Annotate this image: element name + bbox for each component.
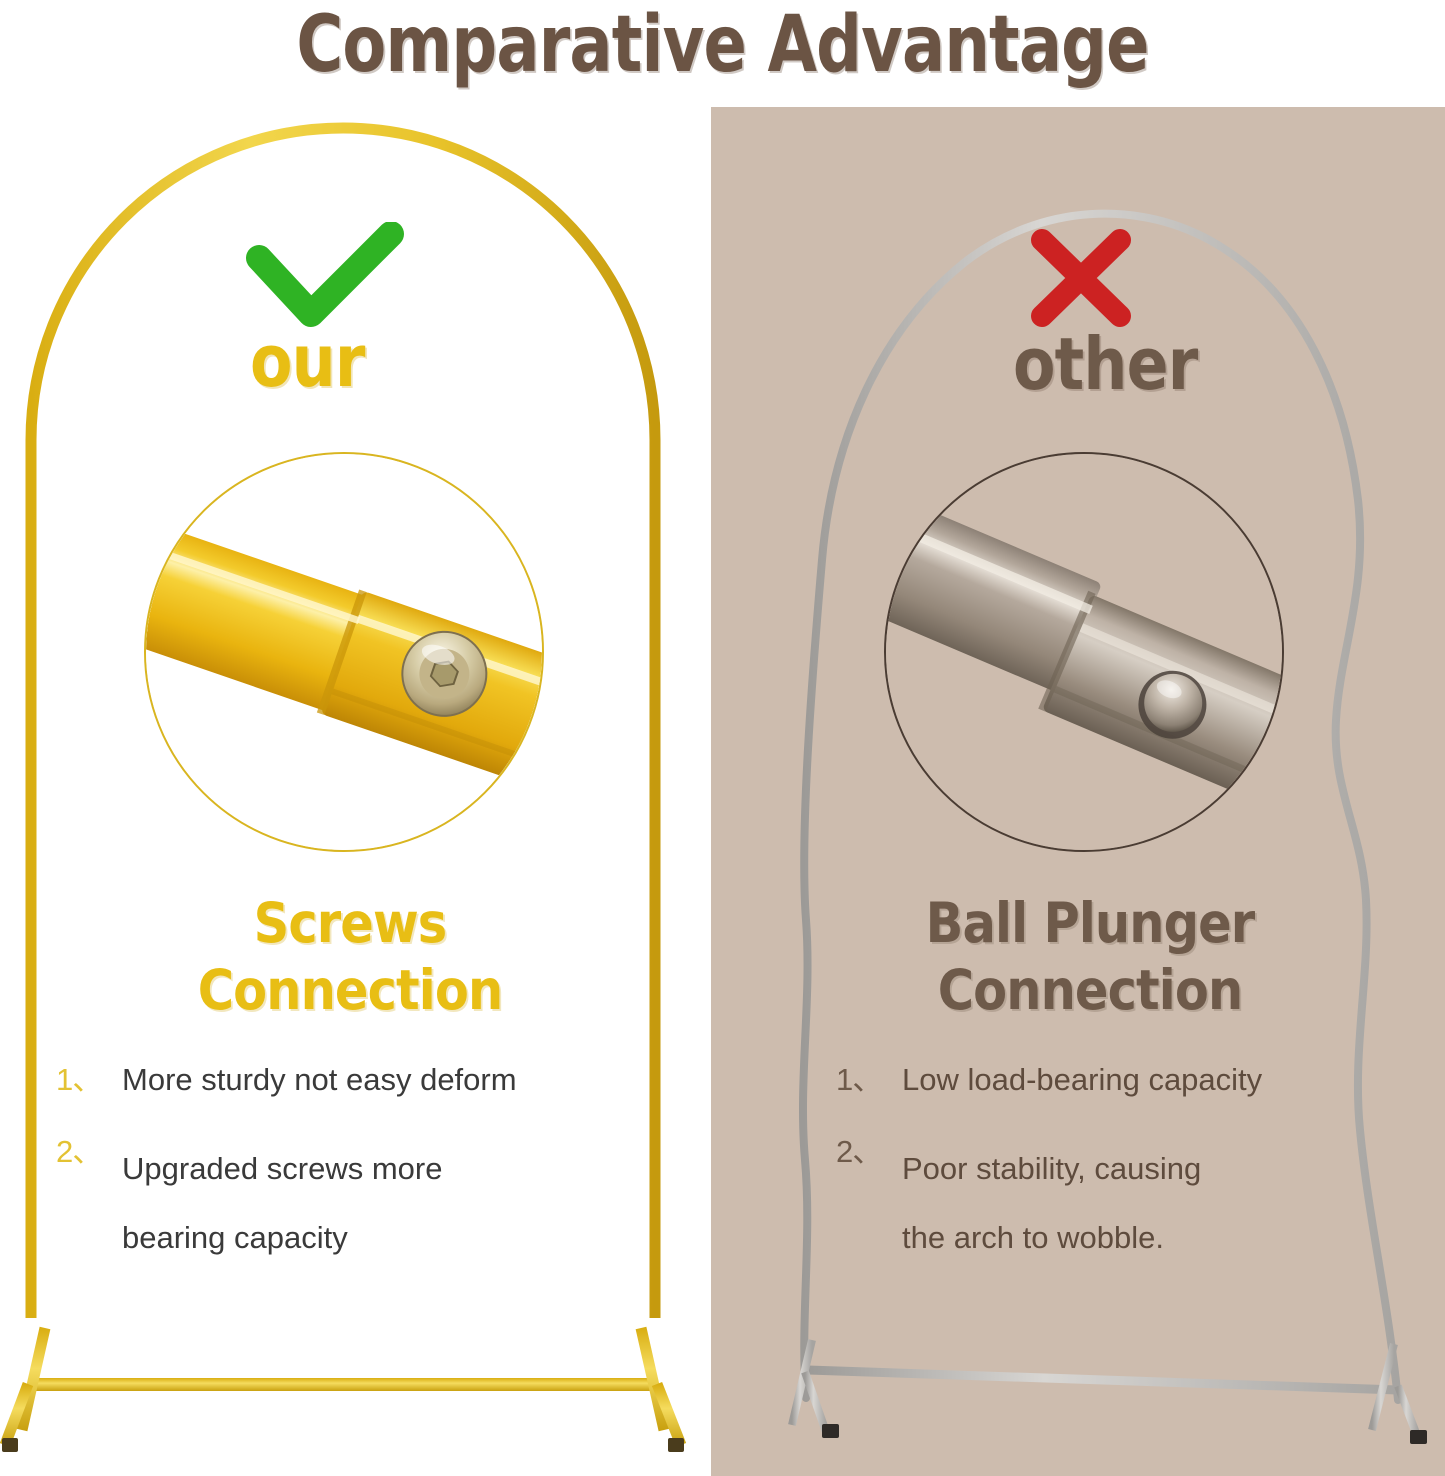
left-heading-line2: Connection	[89, 957, 611, 1024]
page-title: Comparative Advantage	[130, 2, 1315, 88]
check-mark-icon	[245, 222, 405, 332]
left-bullet-list: 1、 More sturdy not easy deform 2、 Upgrad…	[56, 1062, 676, 1308]
right-heading: Ball Plunger Connection	[829, 890, 1351, 1024]
left-heading-line1: Screws	[89, 890, 611, 957]
list-item: 2、 Upgraded screws more bearing capacity	[56, 1134, 676, 1272]
list-item-text: More sturdy not easy deform	[122, 1062, 676, 1098]
list-item-number: 1、	[56, 1062, 122, 1098]
ball-plunger-connection-photo	[884, 452, 1284, 852]
left-heading: Screws Connection	[89, 890, 611, 1024]
list-item-number: 1、	[836, 1062, 902, 1098]
list-item-text: Poor stability, causing the arch to wobb…	[902, 1134, 1436, 1272]
right-heading-line1: Ball Plunger	[829, 890, 1351, 957]
list-item-number: 2、	[56, 1134, 122, 1170]
list-item-text: Upgraded screws more bearing capacity	[122, 1134, 676, 1272]
list-item-text: Low load-bearing capacity	[902, 1062, 1436, 1098]
list-item-number: 2、	[836, 1134, 902, 1170]
list-item: 1、 Low load-bearing capacity	[836, 1062, 1436, 1098]
list-item: 2、 Poor stability, causing the arch to w…	[836, 1134, 1436, 1272]
screws-connection-photo	[144, 452, 544, 852]
our-label: our	[250, 322, 365, 400]
right-heading-line2: Connection	[829, 957, 1351, 1024]
list-item: 1、 More sturdy not easy deform	[56, 1062, 676, 1098]
cross-mark-icon	[1026, 228, 1136, 328]
other-label: other	[1013, 325, 1197, 403]
comparison-infographic: Comparative Advantage	[0, 0, 1445, 1476]
right-bullet-list: 1、 Low load-bearing capacity 2、 Poor sta…	[836, 1062, 1436, 1308]
